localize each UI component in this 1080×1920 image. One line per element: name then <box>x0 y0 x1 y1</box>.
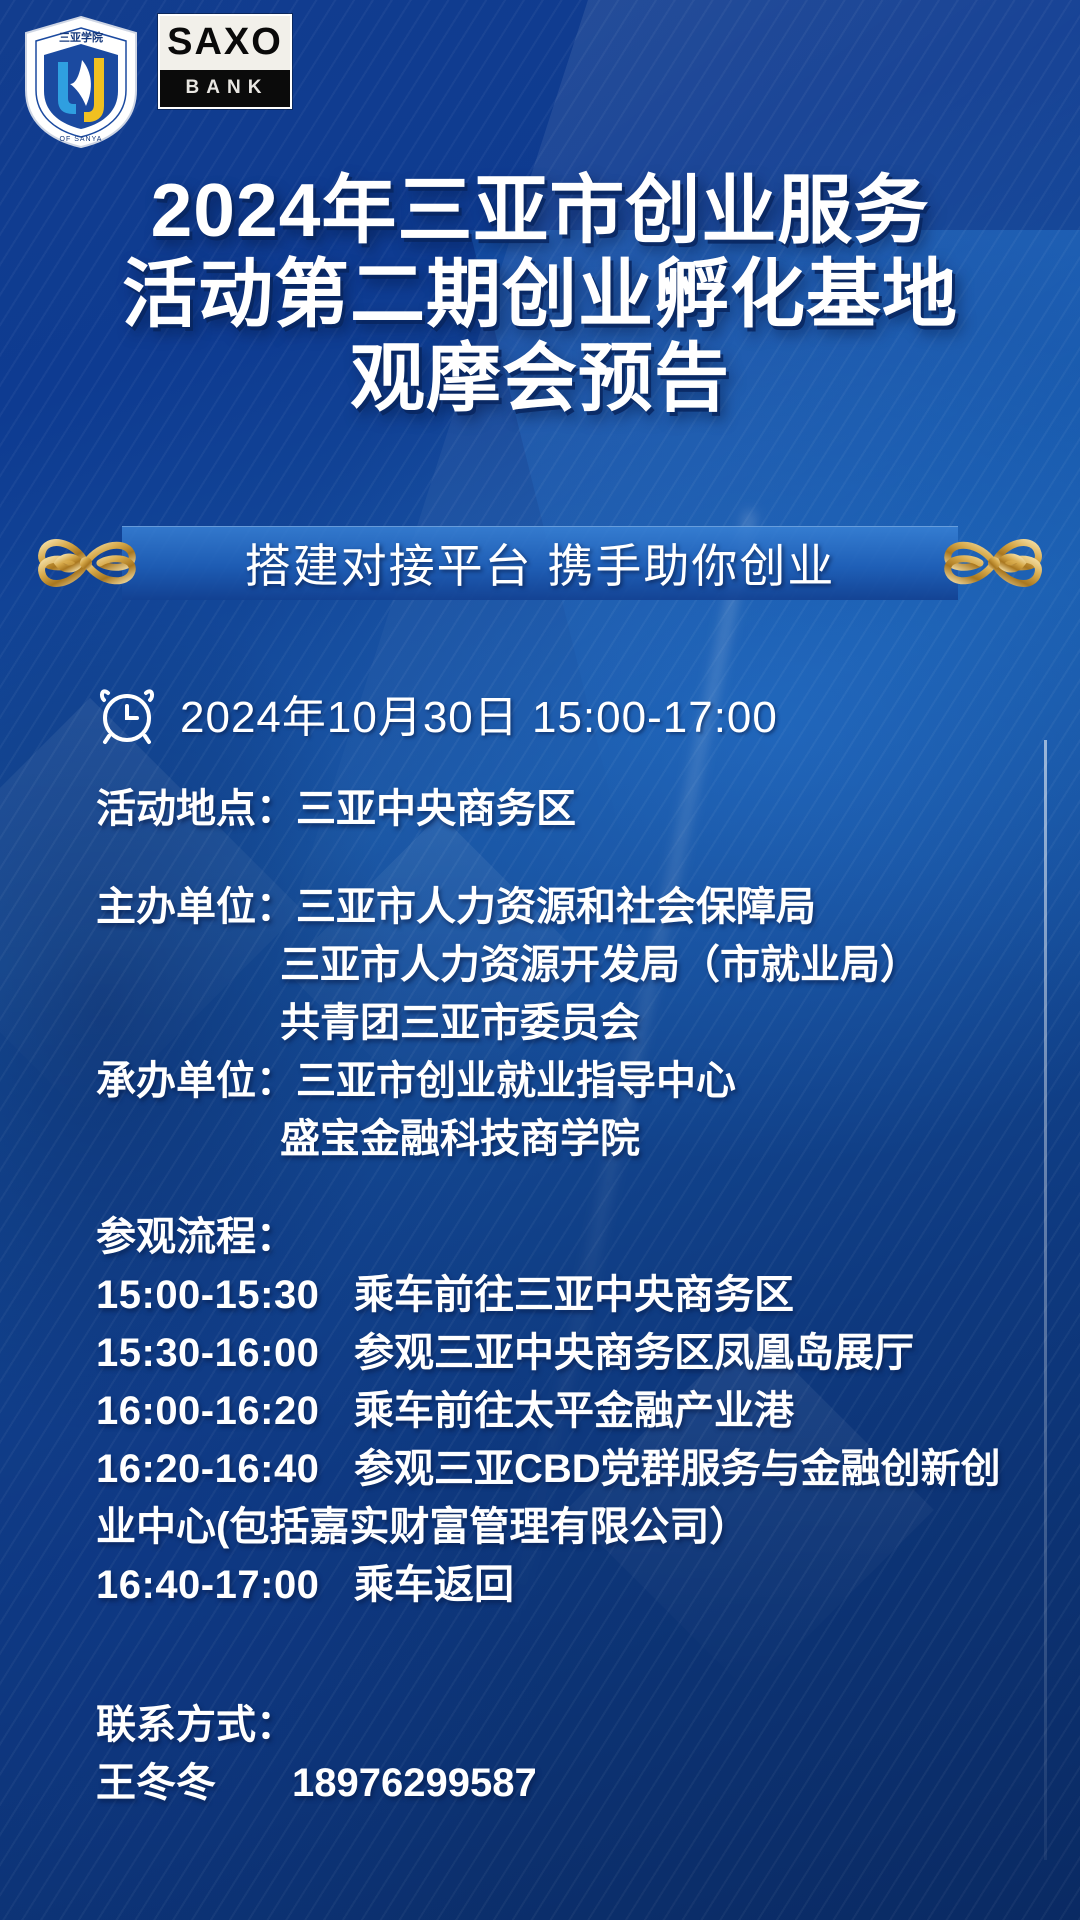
svg-text:三亚学院: 三亚学院 <box>59 30 103 44</box>
schedule-time-5: 16:40-17:00 <box>96 1556 354 1614</box>
poster-title: 2024年三亚市创业服务 活动第二期创业孵化基地 观摩会预告 <box>0 168 1080 420</box>
co-organizer-row-2: 盛宝金融科技商学院 <box>96 1110 1020 1168</box>
organizer-row-3: 共青团三亚市委员会 <box>96 994 1020 1052</box>
co-organizer-row-1: 承办单位： 三亚市创业就业指导中心 <box>96 1052 1020 1110</box>
svg-text:OF SANYA: OF SANYA <box>60 136 103 143</box>
organizer-value-3: 共青团三亚市委员会 <box>280 994 640 1052</box>
logo-row: 三亚学院 OF SANYA SAXO BANK <box>18 14 292 150</box>
schedule-row-4: 16:20-16:40参观三亚CBD党群服务与金融创新创业中心(包括嘉实财富管理… <box>96 1440 1020 1556</box>
schedule-desc-1: 乘车前往三亚中央商务区 <box>354 1273 794 1317</box>
location-row: 活动地点： 三亚中央商务区 <box>96 780 1020 838</box>
organizer-value-2: 三亚市人力资源开发局（市就业局） <box>280 936 920 994</box>
saxo-bank-word: BANK <box>160 70 290 107</box>
info-body: 2024年10月30日 15:00-17:00 活动地点： 三亚中央商务区 主办… <box>96 680 1020 1812</box>
datetime-row: 2024年10月30日 15:00-17:00 <box>96 680 1020 746</box>
contact-phone: 18976299587 <box>292 1761 537 1805</box>
organizer-row-2: 三亚市人力资源开发局（市就业局） <box>96 936 1020 994</box>
schedule-desc-5: 乘车返回 <box>354 1563 514 1607</box>
alarm-clock-icon <box>96 680 158 746</box>
contact-title: 联系方式： <box>96 1696 1020 1754</box>
schedule-row-5: 16:40-17:00乘车返回 <box>96 1556 1020 1614</box>
co-organizer-label: 承办单位： <box>96 1052 296 1110</box>
spacer-2 <box>96 1168 1020 1208</box>
schedule-desc-2: 参观三亚中央商务区凤凰岛展厅 <box>354 1331 914 1375</box>
datetime-text: 2024年10月30日 15:00-17:00 <box>180 681 778 745</box>
gold-flourish-icon-right <box>934 520 1052 606</box>
schedule-time-4: 16:20-16:40 <box>96 1440 354 1498</box>
schedule-title: 参观流程： <box>96 1208 1020 1266</box>
schedule-time-3: 16:00-16:20 <box>96 1382 354 1440</box>
contact-block: 联系方式： 王冬冬18976299587 <box>96 1696 1020 1812</box>
schedule-time-1: 15:00-15:30 <box>96 1266 354 1324</box>
decorative-vertical-line <box>1044 740 1047 1860</box>
saxo-wordmark: SAXO <box>160 16 290 70</box>
schedule-time-2: 15:30-16:00 <box>96 1324 354 1382</box>
contact-detail-row: 王冬冬18976299587 <box>96 1754 1020 1812</box>
title-line-1: 2024年三亚市创业服务 <box>0 168 1080 252</box>
organizer-row-1: 主办单位： 三亚市人力资源和社会保障局 <box>96 878 1020 936</box>
title-line-3: 观摩会预告 <box>0 336 1080 420</box>
title-line-2: 活动第二期创业孵化基地 <box>0 252 1080 336</box>
contact-name: 王冬冬 <box>96 1754 292 1812</box>
slogan-ribbon: 搭建对接平台 携手助你创业 <box>0 520 1080 606</box>
spacer-1 <box>96 838 1020 878</box>
university-shield-icon: 三亚学院 OF SANYA <box>18 14 144 150</box>
schedule-desc-3: 乘车前往太平金融产业港 <box>354 1389 794 1433</box>
location-label: 活动地点： <box>96 780 296 838</box>
saxo-bank-logo: SAXO BANK <box>158 14 292 109</box>
co-organizer-value-1: 三亚市创业就业指导中心 <box>296 1052 736 1110</box>
schedule-row-1: 15:00-15:30乘车前往三亚中央商务区 <box>96 1266 1020 1324</box>
organizer-value-1: 三亚市人力资源和社会保障局 <box>296 878 816 936</box>
slogan-text: 搭建对接平台 携手助你创业 <box>245 530 836 596</box>
location-value: 三亚中央商务区 <box>296 780 576 838</box>
gold-flourish-icon-left <box>28 520 146 606</box>
schedule-row-3: 16:00-16:20乘车前往太平金融产业港 <box>96 1382 1020 1440</box>
organizer-label: 主办单位： <box>96 878 296 936</box>
poster-root: 三亚学院 OF SANYA SAXO BANK 2024年三亚市创业服务 活动第… <box>0 0 1080 1920</box>
co-organizer-value-2: 盛宝金融科技商学院 <box>280 1110 640 1168</box>
schedule-row-2: 15:30-16:00参观三亚中央商务区凤凰岛展厅 <box>96 1324 1020 1382</box>
